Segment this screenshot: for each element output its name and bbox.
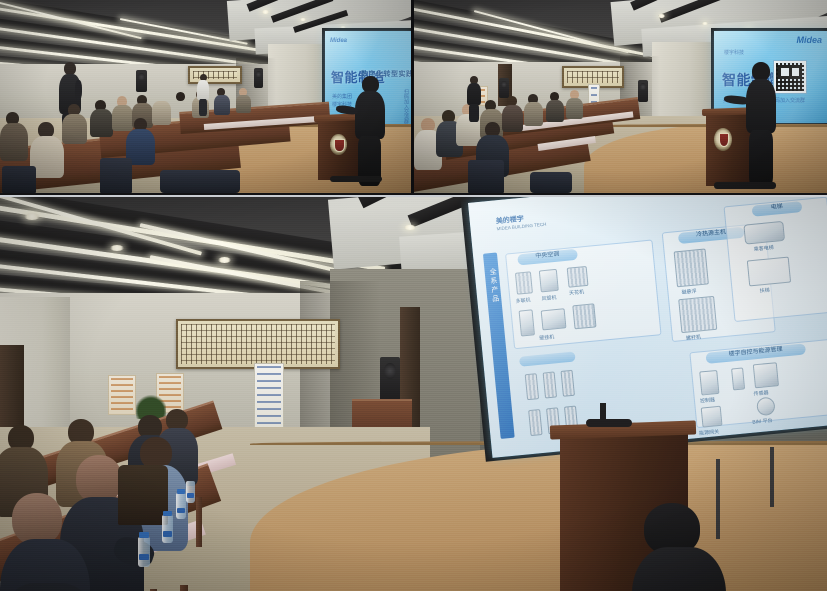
screen-support-leg (770, 447, 774, 507)
product-caption: 壁挂机 (539, 333, 555, 341)
microphone (600, 403, 606, 421)
product-thumb (528, 409, 542, 436)
wall-speaker (254, 68, 263, 88)
product-thumb (743, 221, 785, 245)
torso (546, 100, 564, 122)
torso (172, 99, 191, 122)
calligraphy-inner (181, 324, 335, 364)
chinese-calligraphy-scroll (176, 319, 340, 369)
brand-sublabel: 楼宇科技 (724, 49, 744, 56)
downlight (658, 14, 665, 18)
lectern-crest (714, 128, 732, 151)
microphone (586, 419, 632, 427)
seated-attendee (62, 104, 88, 148)
torso (632, 547, 726, 591)
product-caption: 天花机 (569, 288, 585, 296)
standing-poster (108, 375, 136, 415)
torso (355, 91, 385, 139)
product-thumb (753, 362, 779, 388)
seated-attendee (524, 94, 544, 128)
downlight (262, 10, 269, 14)
downlight (24, 213, 40, 220)
torso (62, 114, 87, 144)
product-caption: 控制器 (700, 396, 716, 404)
auditorium-chair (530, 172, 572, 193)
head (12, 493, 62, 545)
product-thumb (567, 266, 589, 288)
standing-attendee (466, 76, 482, 122)
bottle-cap (139, 532, 149, 538)
auditorium-chair (100, 158, 132, 193)
torso (467, 83, 481, 105)
torso (524, 102, 543, 126)
panel-divider-highlight (0, 195, 827, 197)
torso (214, 95, 230, 115)
torso (0, 583, 106, 591)
water-bottle (162, 515, 173, 543)
slide-caption-1: 美的集团 (332, 93, 352, 100)
audience-member (0, 583, 110, 591)
product-caption: 扶梯 (759, 286, 770, 294)
downlight (110, 245, 124, 251)
seated-attendee (566, 90, 584, 120)
product-thumb (572, 303, 596, 329)
table-leg (196, 497, 202, 547)
assistant-standing (196, 74, 210, 116)
side-tab-label: 全系产品 (487, 268, 499, 305)
seated-attendee (90, 100, 114, 140)
downlight (300, 18, 306, 21)
auditorium-chair (468, 160, 504, 193)
product-thumb (525, 373, 539, 400)
arm (75, 80, 82, 100)
product-thumb (731, 367, 745, 390)
product-thumb (519, 309, 535, 336)
auditorium-chair (2, 166, 36, 193)
product-caption: 磁悬浮 (681, 288, 697, 296)
photo-panel-top-left: Midea 智能制造 数字化转型实践 美的集团 楼宇科技 扫码加入交流群 (0, 0, 411, 193)
product-thumb (747, 257, 791, 287)
product-caption: 能源网关 (699, 428, 720, 437)
water-bottle (186, 481, 195, 503)
presenter (630, 503, 730, 591)
panel-divider-vertical (411, 0, 414, 193)
seated-attendee (0, 112, 30, 168)
door (0, 345, 24, 431)
product-caption: 风管机 (541, 294, 557, 302)
microphone-stand (714, 182, 776, 189)
wall-speaker (499, 78, 509, 98)
microphone-stand (330, 176, 382, 182)
slide-qr-caption: 扫码加入交流群 (403, 89, 410, 124)
product-thumb (561, 370, 575, 397)
downlight (702, 22, 708, 25)
torso (746, 79, 776, 133)
scan-qr-code (774, 61, 806, 93)
seated-attendee (546, 92, 565, 124)
brand-logo: Midea (330, 38, 347, 44)
seated-attendee (214, 88, 231, 116)
product-caption: 传感器 (753, 389, 769, 397)
photo-collage: Midea 智能制造 数字化转型实践 美的集团 楼宇科技 扫码加入交流群 (0, 0, 827, 591)
torso (0, 123, 28, 161)
product-thumb (678, 296, 717, 333)
wall-speaker (136, 70, 147, 92)
wall-speaker (380, 357, 400, 401)
product-caption: 多联机 (515, 296, 531, 304)
poster-text-lines (111, 378, 133, 412)
product-thumb (541, 308, 567, 330)
product-caption: BIM 平台 (752, 417, 773, 426)
presenter (352, 76, 388, 186)
product-thumb (701, 406, 723, 428)
legs (199, 99, 207, 116)
auditorium-chair (118, 465, 168, 525)
table-leg (180, 585, 188, 591)
downlight (218, 257, 231, 263)
product-caption: 螺杆机 (686, 333, 702, 341)
lectern-crest (330, 134, 347, 155)
seated-attendee (236, 88, 252, 114)
calligraphy-inner (567, 71, 619, 83)
bottle-cap (163, 511, 172, 516)
product-thumb (699, 370, 719, 396)
torso (236, 95, 251, 113)
auditorium-chair (160, 170, 240, 193)
presenter (744, 62, 778, 188)
water-bottle (176, 493, 186, 519)
photo-panel-bottom: 美的楼宇 MIDEA BUILDING TECH Midea 全系产品 中央空调… (0, 197, 827, 591)
torso (197, 80, 209, 100)
legs (749, 130, 773, 188)
group-sublabel (519, 351, 576, 366)
wall-speaker (638, 80, 648, 102)
product-thumb (543, 371, 557, 398)
torso (90, 109, 113, 137)
bottle-cap (177, 489, 185, 494)
water-bottle (138, 537, 150, 567)
led-video-wall: 美的楼宇 MIDEA BUILDING TECH Midea 全系产品 中央空调… (468, 197, 827, 458)
audience-member (0, 493, 92, 591)
torso (566, 98, 583, 119)
brand-logo: Midea (796, 35, 822, 45)
product-thumb (515, 271, 533, 294)
legs (469, 104, 479, 122)
photo-panel-top-right: Midea 楼宇科技 智能制造 数字化转型实践 美的集团 扫码加入交流群 (414, 0, 827, 193)
product-thumb (674, 248, 709, 287)
catalogue-slide: 美的楼宇 MIDEA BUILDING TECH Midea 全系产品 中央空调… (468, 197, 827, 458)
product-thumb (539, 269, 559, 293)
downlight (404, 225, 416, 230)
seated-attendee (172, 92, 192, 124)
